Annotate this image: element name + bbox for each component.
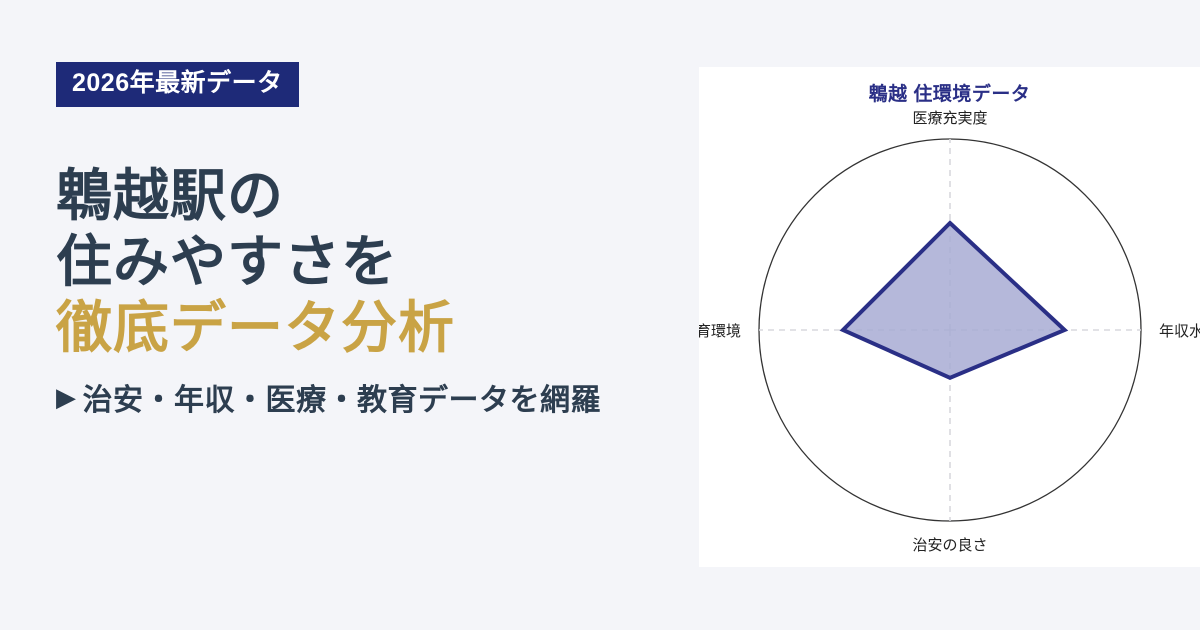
axis-label-top: 医療充実度 <box>912 110 987 127</box>
page-title: 鵯越駅の 住みやすさを 徹底データ分析 <box>56 163 700 361</box>
radar-chart-card: 鵯越 住環境データ 医療充実度 年収水準 治安の良さ 教育環境 <box>699 67 1200 567</box>
hero-left-panel: 2026年最新データ 鵯越駅の 住みやすさを 徹底データ分析 ▶ 治安・年収・医… <box>0 0 700 630</box>
subtitle-text: 治安・年収・医療・教育データを網羅 <box>83 375 602 419</box>
radar-data-polygon <box>843 223 1065 378</box>
axis-label-left: 教育環境 <box>699 322 741 340</box>
axis-label-bottom: 治安の良さ <box>912 537 987 554</box>
subtitle: ▶ 治安・年収・医療・教育データを網羅 <box>56 375 700 419</box>
headline-line-2: 住みやすさを <box>56 229 700 295</box>
radar-chart: 医療充実度 年収水準 治安の良さ 教育環境 <box>699 67 1200 567</box>
axis-label-right: 年収水準 <box>1159 323 1200 340</box>
triangle-marker-icon: ▶ <box>56 384 77 410</box>
headline-line-3-accent: 徹底データ分析 <box>56 295 700 361</box>
headline-line-1: 鵯越駅の <box>56 163 700 229</box>
date-badge: 2026年最新データ <box>56 62 299 107</box>
